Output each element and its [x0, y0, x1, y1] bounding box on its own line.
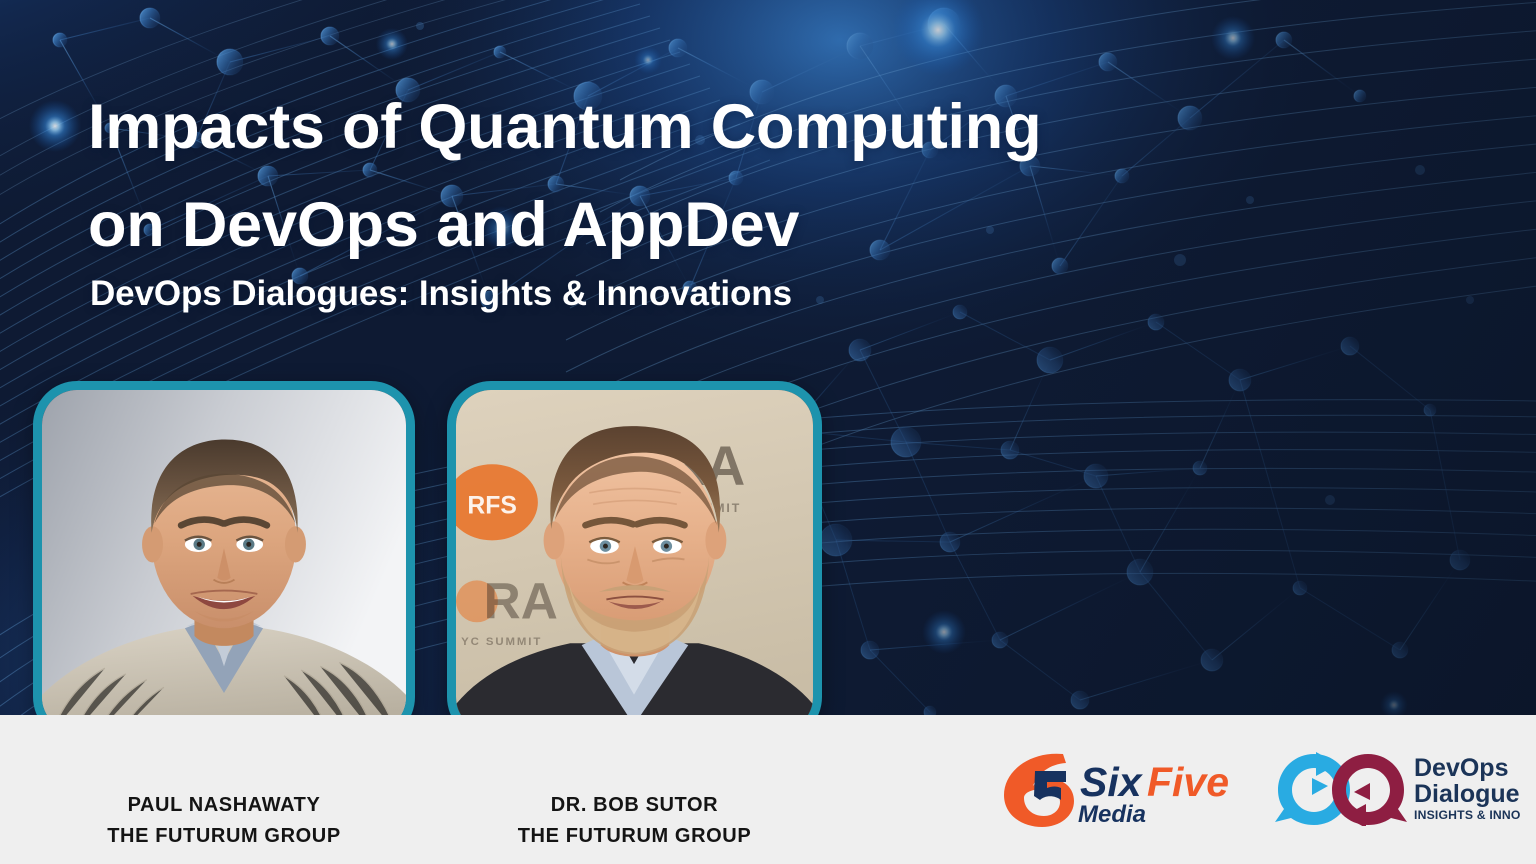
logo-word-five: Five: [1147, 759, 1229, 805]
devops-dialogues-logo: DevOps Dialogues: INSIGHTS & INNOVATIONS: [1272, 748, 1520, 826]
speaker-photo-paul-nashawaty: [33, 381, 415, 741]
svg-text:RA: RA: [484, 571, 558, 629]
devops-logo-line1: DevOps: [1414, 754, 1508, 782]
svg-text:RFS: RFS: [467, 493, 517, 520]
svg-text:YC SUMMIT: YC SUMMIT: [461, 636, 542, 648]
speaker-org-2: THE FUTURUM GROUP: [447, 821, 822, 852]
devops-logo-tagline: INSIGHTS & INNOVATIONS: [1414, 808, 1520, 822]
logo-word-media: Media: [1078, 801, 1146, 828]
logo-word-six: Six: [1080, 759, 1144, 805]
speaker-org-1: THE FUTURUM GROUP: [33, 821, 415, 852]
speaker-label-2: DR. BOB SUTOR THE FUTURUM GROUP: [447, 790, 822, 852]
devops-logo-line2: Dialogues:: [1414, 780, 1520, 808]
page-title: Impacts of Quantum Computing on DevOps a…: [88, 78, 1348, 275]
speaker-name-1: PAUL NASHAWATY: [33, 790, 415, 821]
presentation-slide: Impacts of Quantum Computing on DevOps a…: [0, 0, 1536, 864]
devops-maroon-arrow-icon: [1332, 754, 1407, 826]
page-subtitle: DevOps Dialogues: Insights & Innovations: [90, 274, 792, 314]
sixfive-media-logo: Six Five Media: [1000, 745, 1258, 829]
speaker-photo-dr-bob-sutor: RFS RA SUMMIT RA YC SUMMIT: [447, 381, 822, 741]
speaker-label-1: PAUL NASHAWATY THE FUTURUM GROUP: [33, 790, 415, 852]
speaker-name-2: DR. BOB SUTOR: [447, 790, 822, 821]
